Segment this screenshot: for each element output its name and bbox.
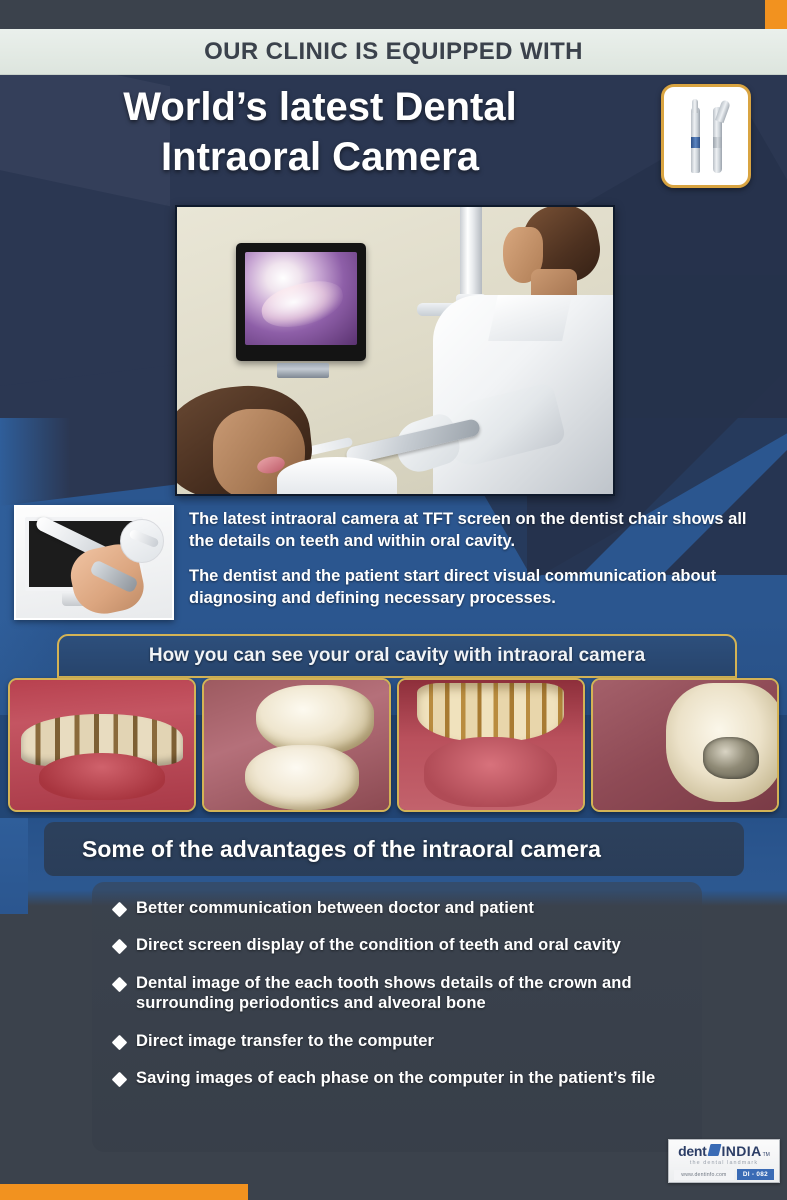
advantage-text: Saving images of each phase on the compu… xyxy=(136,1068,655,1088)
logo-name-part2: INDIA xyxy=(722,1144,762,1158)
logo-url[interactable]: www.dentinfo.com xyxy=(674,1170,734,1180)
logo-name-part1: dent xyxy=(678,1144,706,1158)
advantage-item: Direct screen display of the condition o… xyxy=(114,935,680,955)
diamond-bullet-icon xyxy=(112,1035,128,1051)
advantages-heading-panel: Some of the advantages of the intraoral … xyxy=(44,822,744,876)
title-line-1: World’s latest Dental xyxy=(123,85,516,129)
gallery-banner: How you can see your oral cavity with in… xyxy=(57,634,737,678)
advantage-text: Direct image transfer to the computer xyxy=(136,1031,434,1051)
title-line-2: Intraoral Camera xyxy=(26,132,614,182)
eyebrow-band: OUR CLINIC IS EQUIPPED WITH xyxy=(0,29,787,75)
zoom-bubble-detail xyxy=(120,519,164,563)
brand-logo: dent INDIA TM the dental landmark www.de… xyxy=(668,1139,780,1183)
intraoral-view-screen xyxy=(245,252,357,345)
advantages-heading: Some of the advantages of the intraoral … xyxy=(82,836,601,863)
page-title: World’s latest Dental Intraoral Camera xyxy=(0,82,640,183)
poster-root: OUR CLINIC IS EQUIPPED WITH World’s late… xyxy=(0,0,787,1200)
gallery-photo-2 xyxy=(202,678,390,812)
hero-photo xyxy=(175,205,615,496)
intro-paragraph-1: The latest intraoral camera at TFT scree… xyxy=(189,508,763,552)
advantage-item: Dental image of the each tooth shows det… xyxy=(114,973,680,1014)
logo-tagline: the dental landmark xyxy=(674,1160,774,1166)
advantage-item: Saving images of each phase on the compu… xyxy=(114,1068,680,1088)
gallery-photo-1 xyxy=(8,678,196,812)
advantage-text: Dental image of the each tooth shows det… xyxy=(136,973,680,1014)
intro-text: The latest intraoral camera at TFT scree… xyxy=(189,508,763,609)
advantage-item: Better communication between doctor and … xyxy=(114,898,680,918)
advantages-list-panel: Better communication between doctor and … xyxy=(92,882,702,1152)
intraoral-camera-icon xyxy=(661,84,751,188)
advantage-text: Direct screen display of the condition o… xyxy=(136,935,621,955)
camera-wand-straight-icon xyxy=(689,99,702,173)
diamond-bullet-icon xyxy=(112,939,128,955)
gallery-photo-4 xyxy=(591,678,779,812)
diamond-bullet-icon xyxy=(112,1072,128,1088)
logo-trademark: TM xyxy=(763,1153,770,1158)
tft-monitor xyxy=(236,243,366,361)
diamond-bullet-icon xyxy=(112,977,128,993)
bottom-orange-accent xyxy=(0,1184,248,1200)
inset-photo-camera-in-hand xyxy=(14,505,174,620)
gallery-strip xyxy=(0,678,787,812)
advantage-text: Better communication between doctor and … xyxy=(136,898,534,918)
top-orange-accent xyxy=(765,0,787,29)
top-strip xyxy=(0,0,787,29)
gallery-photo-3 xyxy=(397,678,585,812)
diamond-bullet-icon xyxy=(112,902,128,918)
logo-mark-icon xyxy=(707,1144,721,1156)
gallery-banner-label: How you can see your oral cavity with in… xyxy=(149,645,645,667)
camera-wand-angled-icon xyxy=(711,99,724,173)
advantage-item: Direct image transfer to the computer xyxy=(114,1031,680,1051)
intro-paragraph-2: The dentist and the patient start direct… xyxy=(189,565,763,609)
logo-code-badge: DI - 082 xyxy=(737,1169,774,1180)
eyebrow-text: OUR CLINIC IS EQUIPPED WITH xyxy=(204,38,583,66)
